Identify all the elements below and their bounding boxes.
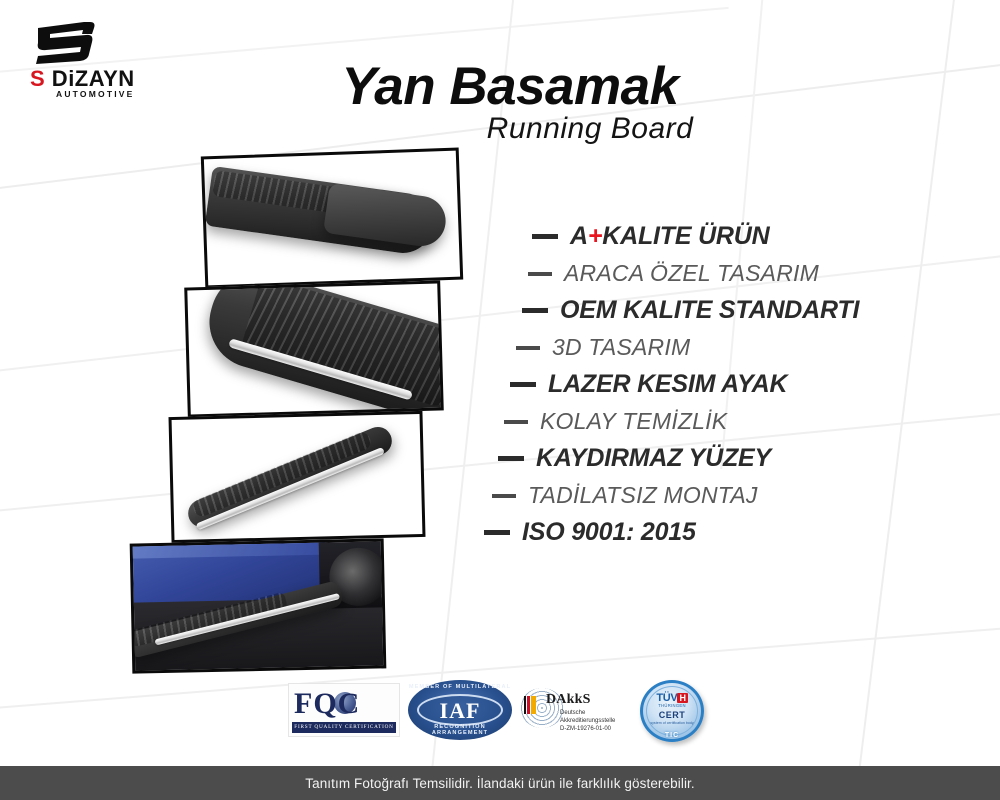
tuv-small-text: system of certification body	[640, 721, 704, 725]
bullet-dash-icon	[484, 530, 510, 535]
tuv-box-icon: H	[677, 693, 687, 703]
product-photo-4	[130, 538, 387, 673]
page-title: Yan Basamak	[300, 56, 720, 117]
product-photo-4-image	[133, 541, 384, 670]
feature-item-3: OEM KALITE STANDARTI	[522, 296, 940, 325]
bullet-dash-icon	[510, 382, 536, 387]
product-photo-2	[184, 280, 444, 417]
product-photo-3	[168, 411, 425, 543]
product-photo-2-image	[187, 284, 440, 415]
feature-item-4: 3D TASARIM	[516, 334, 940, 361]
product-photo-1-image	[204, 151, 460, 286]
fqc-mark: FQC	[294, 687, 360, 721]
feature-item-9: ISO 9001: 2015	[484, 518, 940, 547]
dakks-mark: DAkkS	[546, 692, 591, 708]
dakks-line-1: Deutsche	[560, 710, 585, 716]
fqc-subtitle: FIRST QUALITY CERTIFICATION	[292, 722, 396, 733]
brand-tagline: AUTOMOTIVE	[56, 89, 135, 99]
product-photo-3-image	[172, 414, 423, 540]
feature-item-8: TADİLATSIZ MONTAJ	[492, 482, 940, 509]
footer-bar: Tanıtım Fotoğrafı Temsilidir. İlandaki ü…	[0, 766, 1000, 800]
feature-label-1: A+KALITE ÜRÜN	[570, 222, 770, 251]
feature-label-9: ISO 9001: 2015	[522, 518, 696, 547]
tuv-tic-label: TIC	[640, 732, 704, 739]
iaf-certification-badge: MEMBER OF MULTILATERAL IAF RECOGNITION A…	[408, 680, 512, 740]
advertisement-canvas: S DiZAYN AUTOMOTIVE Yan Basamak Running …	[0, 0, 1000, 800]
iaf-top-text: MEMBER OF MULTILATERAL	[408, 684, 512, 690]
feature-label-2: ARACA ÖZEL TASARIM	[564, 260, 819, 287]
bullet-dash-icon	[492, 494, 516, 498]
fqc-certification-badge: FQC FIRST QUALITY CERTIFICATION	[288, 683, 400, 737]
feature-label-6: KOLAY TEMİZLİK	[540, 408, 727, 435]
bullet-dash-icon	[516, 346, 540, 350]
feature-label-5: LAZER KESIM AYAK	[548, 370, 787, 399]
footer-disclaimer: Tanıtım Fotoğrafı Temsilidir. İlandaki ü…	[305, 776, 695, 791]
plus-accent: +	[588, 222, 602, 250]
feature-item-2: ARACA ÖZEL TASARIM	[528, 260, 940, 287]
bullet-dash-icon	[504, 420, 528, 424]
feature-item-5: LAZER KESIM AYAK	[510, 370, 940, 399]
brand-logo: S DiZAYN AUTOMOTIVE	[22, 18, 162, 98]
brand-initial: S	[30, 66, 45, 91]
feature-item-6: KOLAY TEMİZLİK	[504, 408, 940, 435]
tuv-subtitle: THÜRINGEN	[640, 703, 704, 708]
feature-label-7: KAYDIRMAZ YÜZEY	[536, 444, 771, 473]
bullet-dash-icon	[532, 234, 558, 239]
dakks-certification-badge: DAkkS Deutsche Akkreditierungsstelle D-Z…	[520, 684, 650, 736]
certification-badges: FQC FIRST QUALITY CERTIFICATION MEMBER O…	[280, 680, 720, 742]
product-photo-1	[201, 148, 463, 289]
bullet-dash-icon	[528, 272, 552, 276]
feature-list: A+KALITE ÜRÜN ARACA ÖZEL TASARIM OEM KAL…	[470, 222, 940, 547]
brand-name-rest: DiZAYN	[45, 66, 134, 91]
feature-label-3: OEM KALITE STANDARTI	[560, 296, 859, 325]
bullet-dash-icon	[522, 308, 548, 313]
dakks-line-2: Akkreditierungsstelle	[560, 718, 615, 724]
feature-item-7: KAYDIRMAZ YÜZEY	[498, 444, 940, 473]
page-subtitle: Running Board	[380, 112, 800, 146]
tuv-cert-label: CERT	[640, 710, 704, 720]
feature-item-1: A+KALITE ÜRÜN	[532, 222, 940, 251]
dakks-line-3: D-ZM-19276-01-00	[560, 726, 611, 732]
iaf-bottom-text: RECOGNITION ARRANGEMENT	[408, 724, 512, 736]
s-dizayn-logo-icon	[32, 18, 116, 64]
feature-label-8: TADİLATSIZ MONTAJ	[528, 482, 758, 509]
bullet-dash-icon	[498, 456, 524, 461]
feature-label-4: 3D TASARIM	[552, 334, 690, 361]
dakks-stripe-icon	[524, 696, 536, 714]
iaf-mark: IAF	[408, 698, 512, 724]
tuv-certification-badge: TÜVH THÜRINGEN CERT system of certificat…	[640, 680, 704, 742]
